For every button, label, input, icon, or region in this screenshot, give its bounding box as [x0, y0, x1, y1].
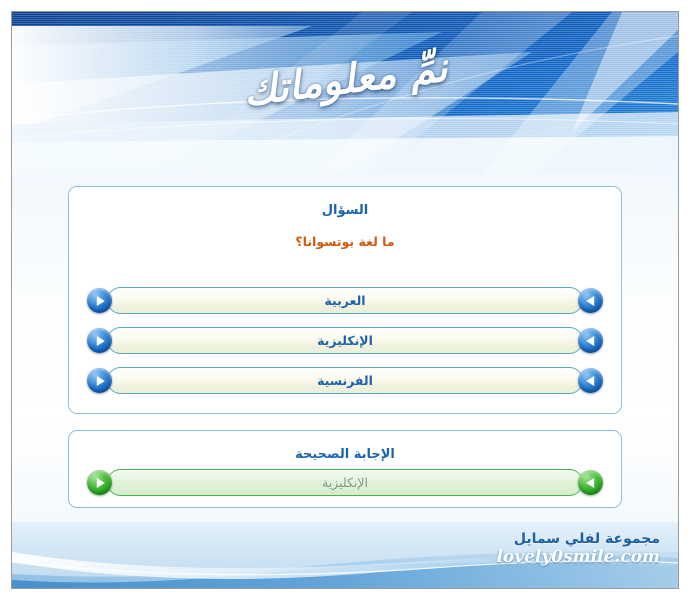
footer-group-name: مجموعة لفلي سمايل — [496, 531, 660, 547]
answer-panel-title: الإجابة الصحيحة — [69, 447, 621, 462]
footer-credit: مجموعة لفلي سمايل lovely0smile.com — [496, 531, 660, 568]
app-frame: نمِّ معلوماتك lovely0smile.com السؤال ما… — [11, 11, 679, 589]
option-label: الإنكليزية — [108, 333, 582, 348]
correct-answer-row: الإنكليزية — [69, 469, 621, 496]
play-left-icon[interactable] — [578, 328, 603, 353]
option-pill[interactable]: العربية — [107, 287, 583, 314]
play-left-icon[interactable] — [578, 288, 603, 313]
option-label: العربية — [108, 293, 582, 308]
play-left-icon[interactable] — [578, 368, 603, 393]
page-root: نمِّ معلوماتك lovely0smile.com السؤال ما… — [0, 0, 692, 602]
question-panel-title: السؤال — [69, 203, 621, 218]
option-pill[interactable]: الفرنسية — [107, 367, 583, 394]
header-decoration-graphic — [12, 12, 678, 174]
correct-answer-pill: الإنكليزية — [107, 469, 583, 496]
question-panel: السؤال ما لغة بوتسوانا؟ العربية الإنكليز… — [68, 186, 622, 414]
option-row[interactable]: الفرنسية — [87, 367, 603, 394]
answer-options-list: العربية الإنكليزية الف — [69, 287, 621, 407]
option-pill[interactable]: الإنكليزية — [107, 327, 583, 354]
option-row[interactable]: العربية — [87, 287, 603, 314]
play-right-icon — [87, 470, 112, 495]
footer-url: lovely0smile.com — [496, 548, 660, 568]
main-content: lovely0smile.com السؤال ما لغة بوتسوانا؟… — [12, 174, 678, 522]
footer-banner: مجموعة لفلي سمايل lovely0smile.com — [12, 522, 678, 588]
option-label: الفرنسية — [108, 373, 582, 388]
question-text: ما لغة بوتسوانا؟ — [69, 234, 621, 249]
header-banner: نمِّ معلوماتك — [12, 12, 678, 174]
play-right-icon[interactable] — [87, 368, 112, 393]
option-row[interactable]: الإنكليزية — [87, 327, 603, 354]
play-right-icon[interactable] — [87, 288, 112, 313]
play-right-icon[interactable] — [87, 328, 112, 353]
correct-answer-label: الإنكليزية — [108, 475, 582, 490]
answer-panel: الإجابة الصحيحة الإنكليزية — [68, 430, 622, 508]
play-left-icon — [578, 470, 603, 495]
